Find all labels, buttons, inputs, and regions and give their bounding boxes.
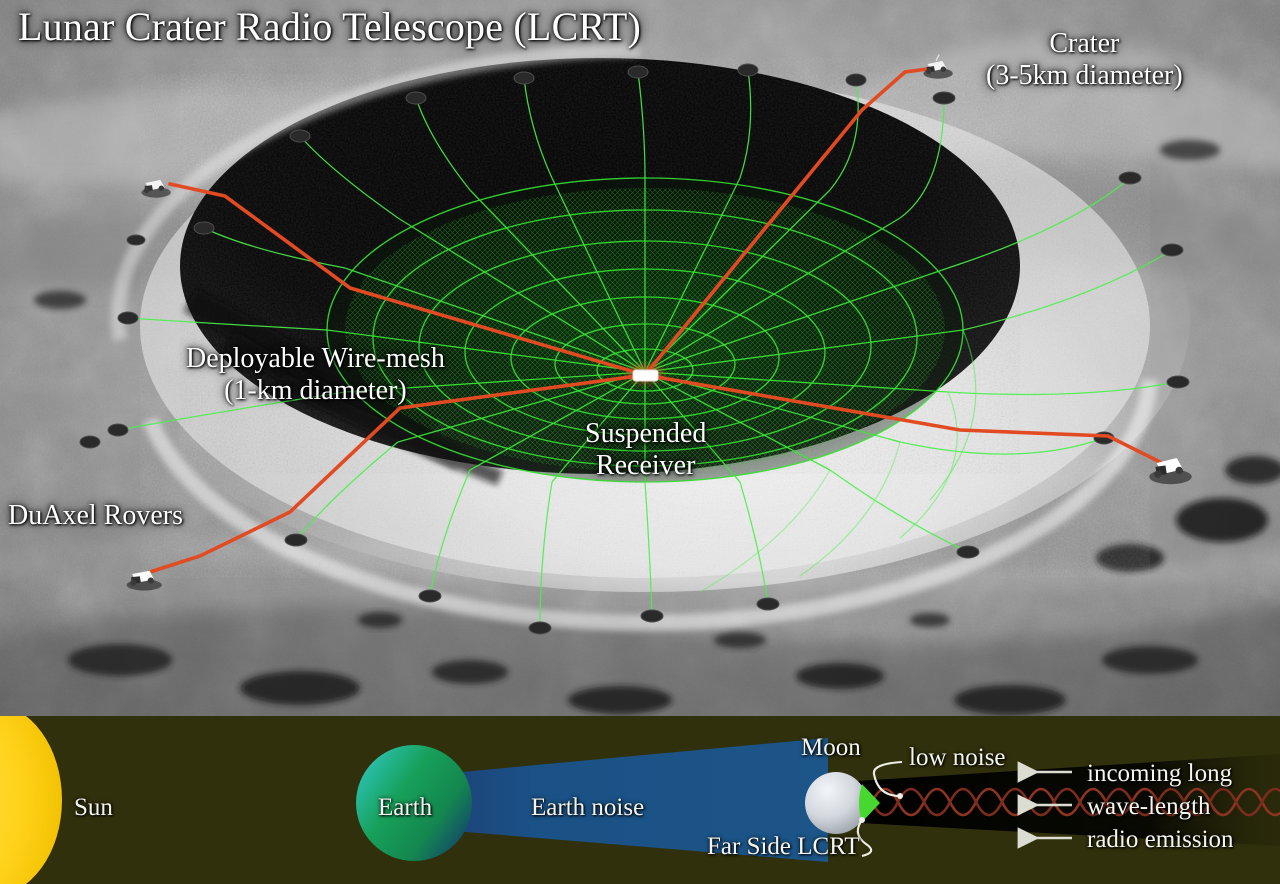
anchor-point-icon bbox=[118, 312, 138, 324]
leader-dot-far-side bbox=[859, 817, 865, 823]
anchor-point-icon bbox=[1119, 172, 1141, 184]
shielding-diagram-svg bbox=[0, 716, 1280, 884]
shielding-diagram: Sun Earth Earth noise Moon low noise Far… bbox=[0, 716, 1280, 884]
anchor-point-icon bbox=[419, 590, 441, 602]
suspended-receiver-icon bbox=[633, 370, 658, 381]
crater-scene: Lunar Crater Radio Telescope (LCRT) Crat… bbox=[0, 0, 1280, 718]
anchor-point-icon bbox=[757, 598, 779, 610]
anchor-point-icon bbox=[933, 92, 955, 104]
anchor-point-icon bbox=[514, 72, 534, 84]
earth-sphere-icon bbox=[356, 745, 472, 861]
anchor-point-icon bbox=[406, 92, 426, 104]
anchor-point-icon bbox=[80, 436, 100, 448]
scene-body bbox=[0, 0, 1280, 718]
anchor-point-icon bbox=[738, 64, 758, 76]
anchor-point-icon bbox=[957, 546, 979, 558]
crater-scene-svg bbox=[0, 0, 1280, 718]
anchor-point-icon bbox=[108, 424, 128, 436]
anchor-point-icon bbox=[846, 74, 866, 86]
anchor-point-icon bbox=[529, 622, 551, 634]
moon-sphere-icon bbox=[805, 772, 867, 834]
anchor-point-icon bbox=[194, 222, 214, 234]
anchor-point-icon bbox=[641, 610, 663, 622]
anchor-point-icon bbox=[285, 534, 307, 546]
anchor-point-icon bbox=[127, 235, 145, 245]
anchor-point-icon bbox=[628, 66, 648, 78]
anchor-point-icon bbox=[1161, 244, 1183, 256]
anchor-point-icon bbox=[1167, 376, 1189, 388]
lcrt-infographic: Lunar Crater Radio Telescope (LCRT) Crat… bbox=[0, 0, 1280, 884]
leader-dot-low-noise bbox=[897, 793, 903, 799]
anchor-point-icon bbox=[290, 130, 310, 142]
suspended-receiver bbox=[627, 365, 663, 383]
